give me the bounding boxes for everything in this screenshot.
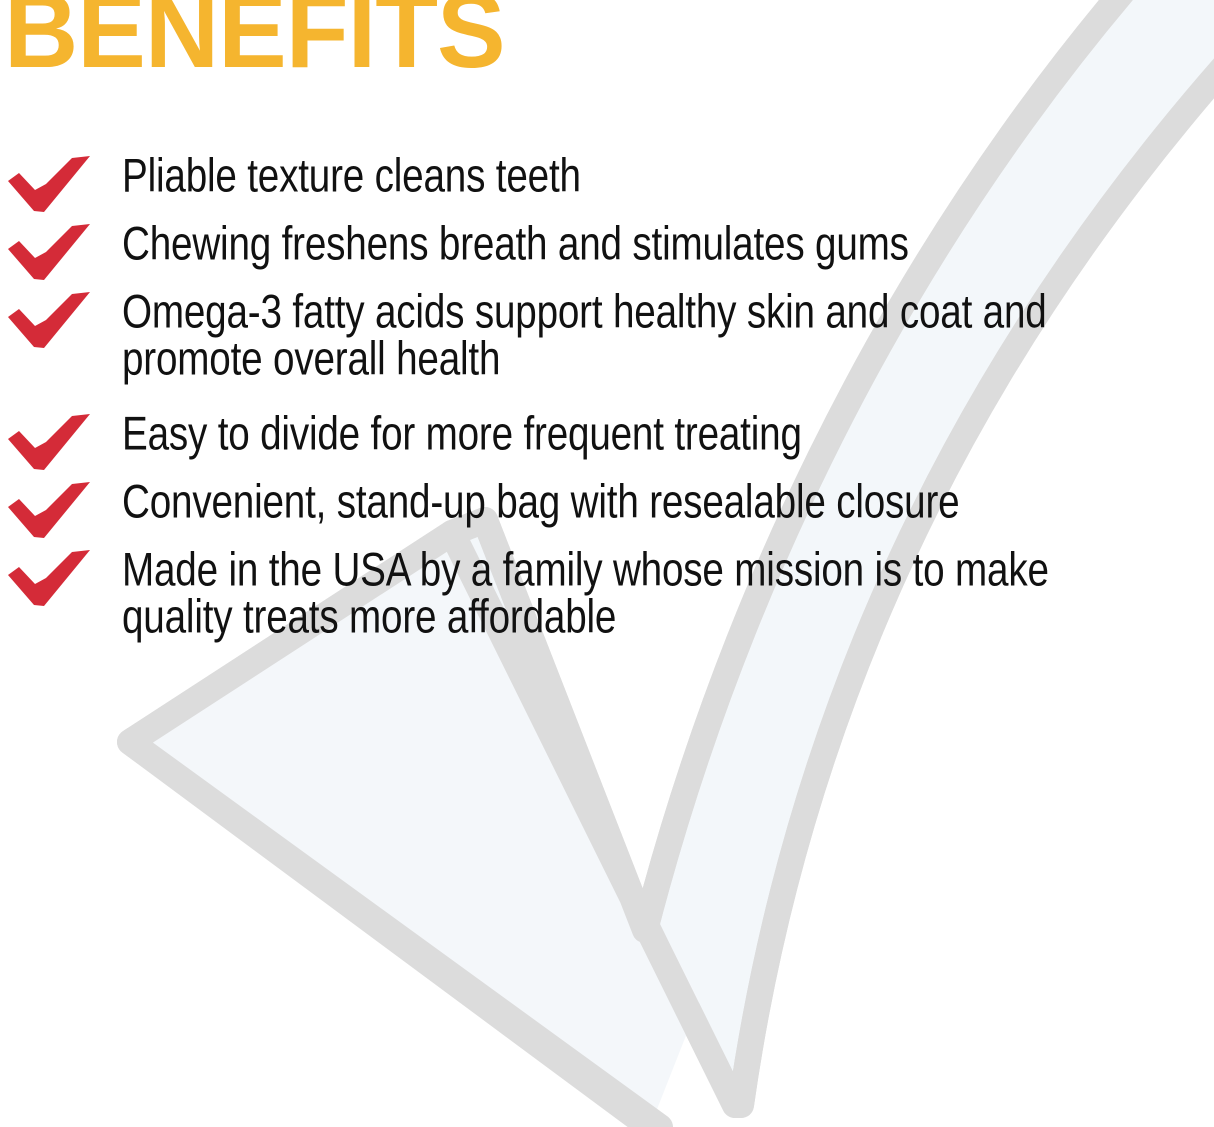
page-title: BENEFITS (4, 0, 505, 84)
benefits-list: Pliable texture cleans teeth Chewing fre… (0, 150, 1214, 666)
bullet-cell (0, 286, 122, 382)
check-icon (6, 292, 98, 354)
list-item-label: Easy to divide for more frequent treatin… (122, 408, 1127, 457)
list-item-label: Made in the USA by a family whose missio… (122, 544, 1127, 640)
list-item: Chewing freshens breath and stimulates g… (0, 218, 1214, 274)
list-item-label: Chewing freshens breath and stimulates g… (122, 218, 1127, 267)
list-item-label: Omega-3 fatty acids support healthy skin… (122, 286, 1127, 382)
bullet-cell (0, 408, 122, 464)
bullet-cell (0, 476, 122, 532)
benefits-infographic: BENEFITS Pliable texture cleans teeth Ch… (0, 0, 1214, 1127)
bullet-cell (0, 218, 122, 274)
list-item: Omega-3 fatty acids support healthy skin… (0, 286, 1214, 382)
check-icon (6, 224, 98, 286)
list-item: Easy to divide for more frequent treatin… (0, 408, 1214, 464)
list-item: Convenient, stand-up bag with resealable… (0, 476, 1214, 532)
check-icon (6, 482, 98, 544)
check-icon (6, 156, 98, 218)
check-icon-path (8, 482, 90, 538)
list-item-label: Pliable texture cleans teeth (122, 150, 1127, 199)
check-icon-path (8, 292, 90, 348)
list-item: Made in the USA by a family whose missio… (0, 544, 1214, 640)
check-icon-path (8, 224, 90, 280)
check-icon (6, 550, 98, 612)
bullet-cell (0, 544, 122, 640)
check-icon-path (8, 414, 90, 470)
bullet-cell (0, 150, 122, 206)
check-icon (6, 414, 98, 476)
check-icon-path (8, 156, 90, 212)
list-item: Pliable texture cleans teeth (0, 150, 1214, 206)
list-item-label: Convenient, stand-up bag with resealable… (122, 476, 1127, 525)
check-icon-path (8, 550, 90, 606)
